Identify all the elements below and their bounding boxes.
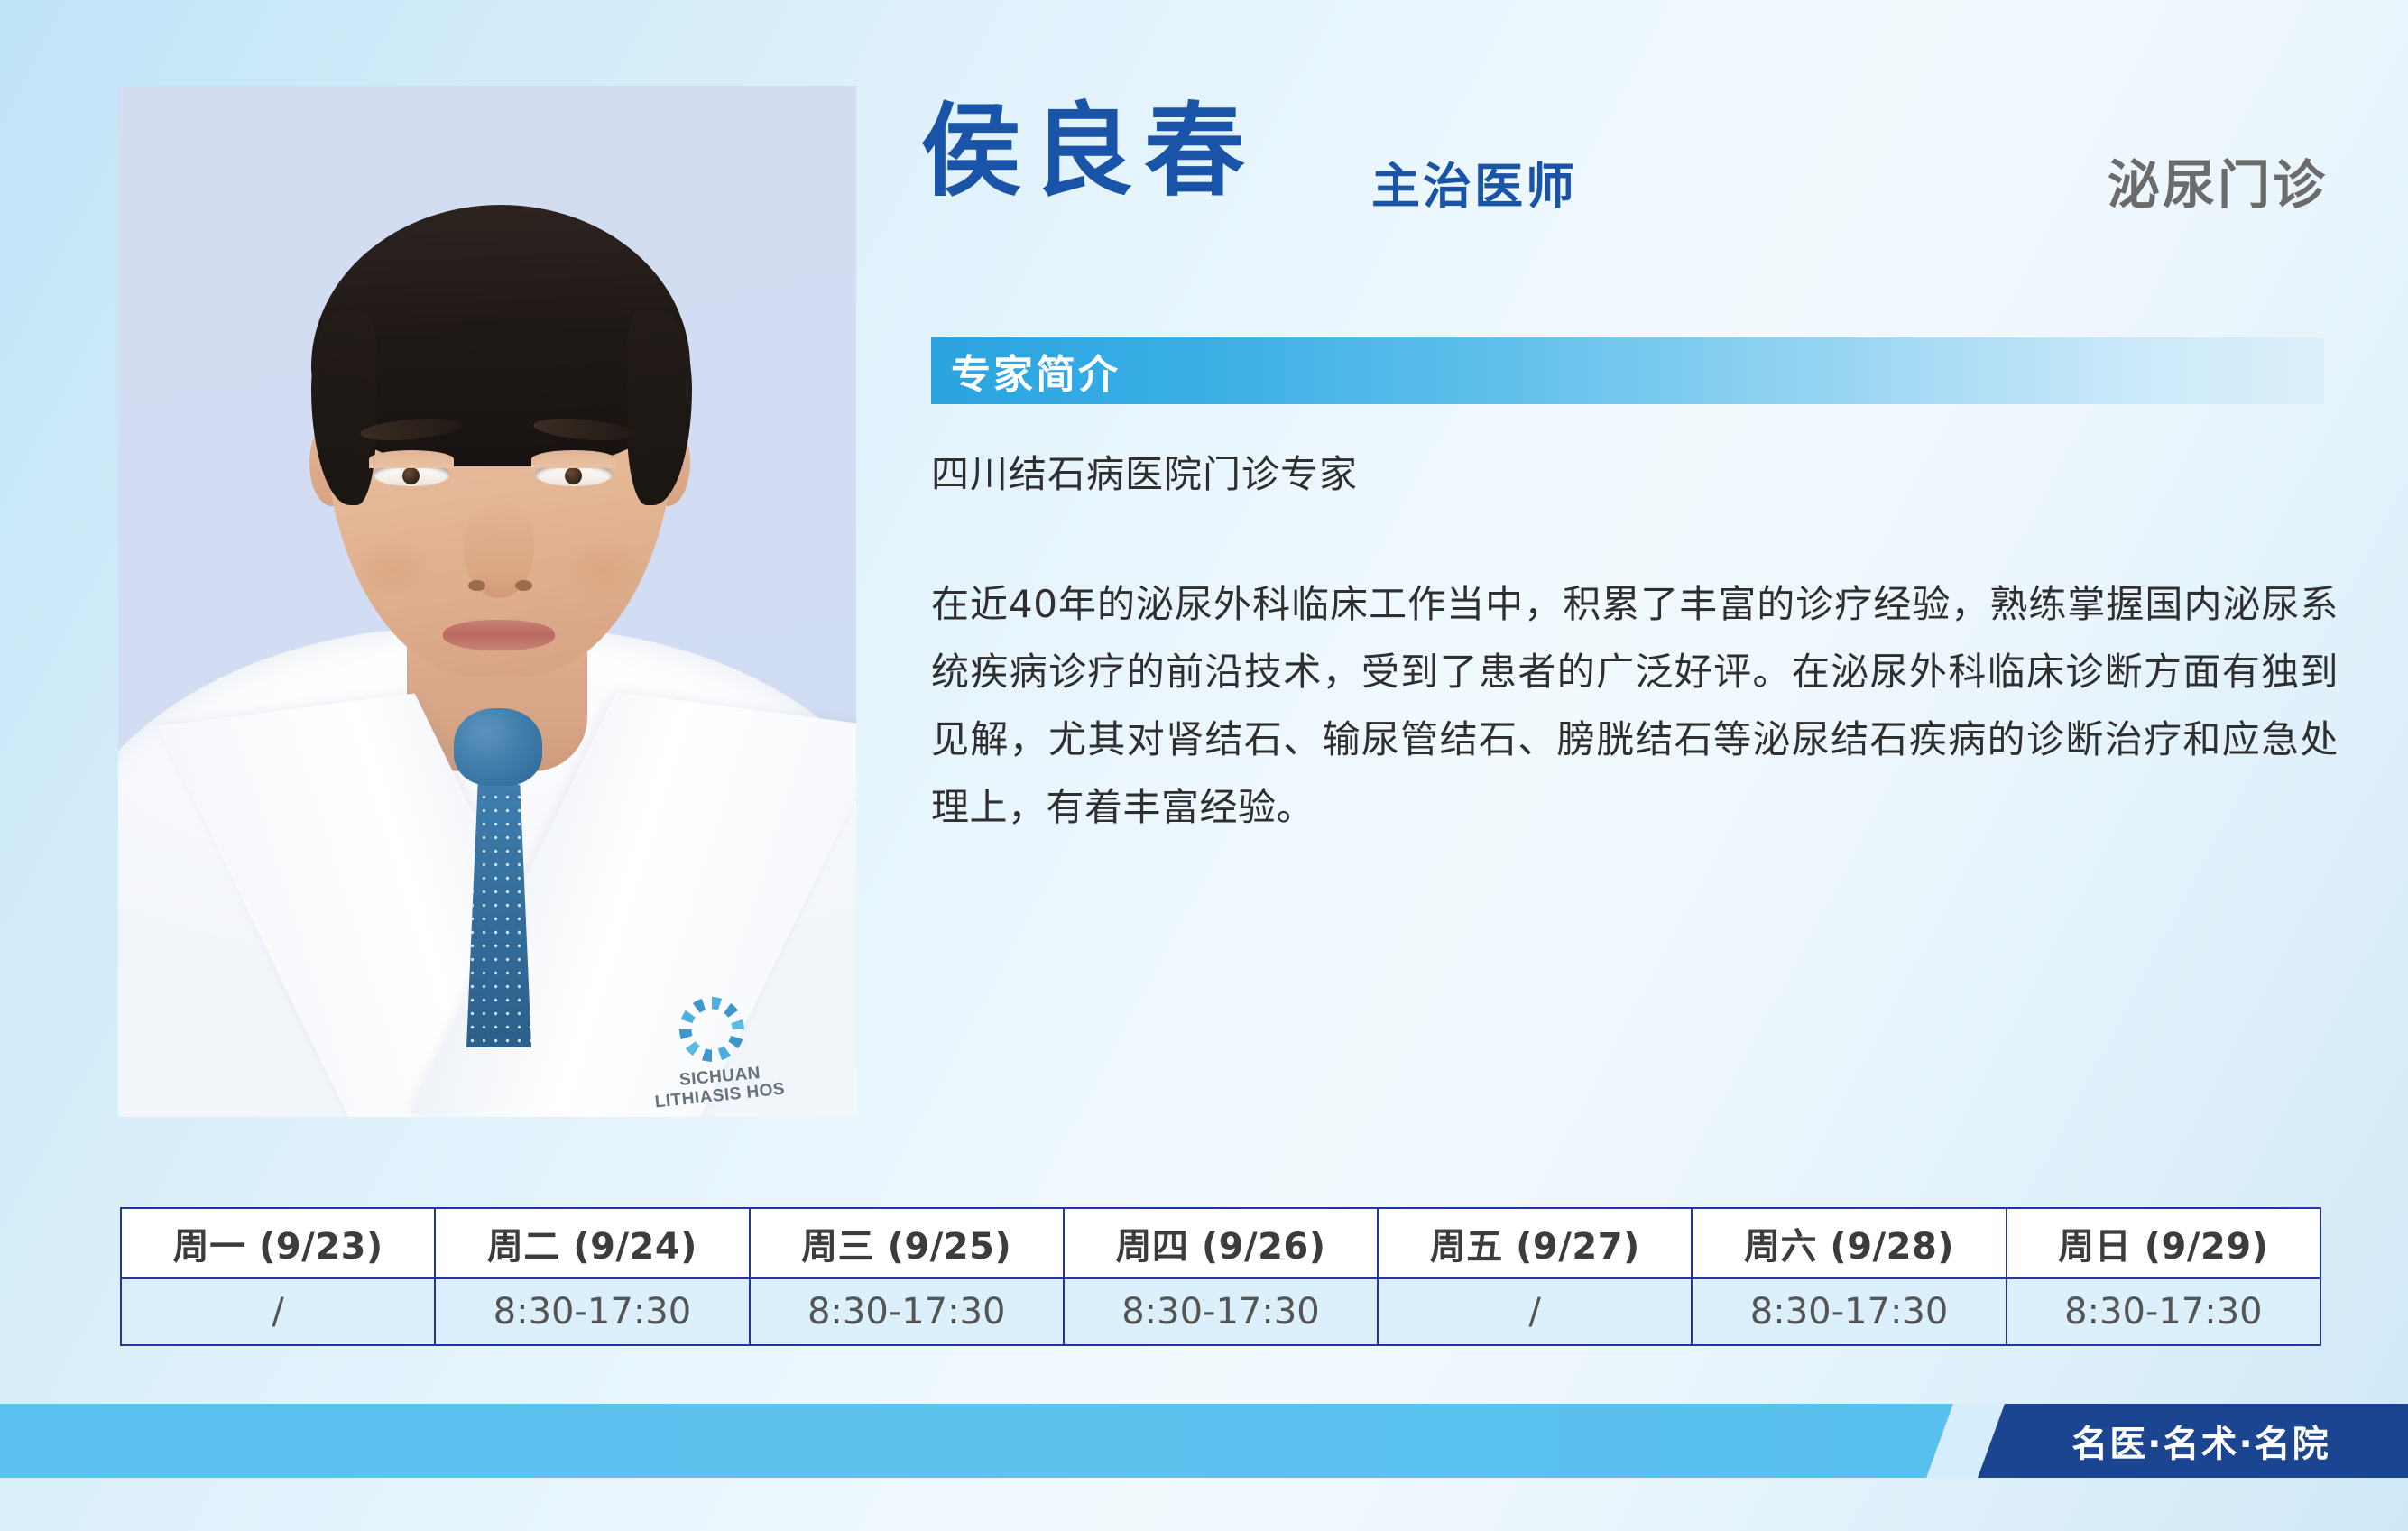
doctor-header: 侯良春 主治医师 泌尿门诊 [920,115,2328,242]
schedule-value-cell: 8:30-17:30 [435,1278,749,1345]
doctor-profile-card: SICHUAN LITHIASIS HOS 侯良春 主治医师 泌尿门诊 专家简介… [0,0,2408,1531]
schedule-header-cell: 周六 (9/28) [1692,1208,2006,1278]
intro-lead-text: 四川结石病医院门诊专家 [931,444,1358,499]
schedule-header-cell: 周一 (9/23) [121,1208,435,1278]
table-header-row: 周一 (9/23) 周二 (9/24) 周三 (9/25) 周四 (9/26) … [121,1208,2320,1278]
footer-bar: 名医·名术·名院 [0,1404,2408,1478]
section-header-bar: 专家简介 [931,337,2325,404]
doctor-title: 主治医师 [1371,162,1577,211]
schedule-header-cell: 周五 (9/27) [1378,1208,1692,1278]
schedule-header-cell: 周四 (9/26) [1064,1208,1378,1278]
cheek-left [351,537,434,602]
department-label: 泌尿门诊 [2108,159,2328,211]
weekly-schedule-table: 周一 (9/23) 周二 (9/24) 周三 (9/25) 周四 (9/26) … [120,1207,2321,1346]
pupil-right [565,467,582,484]
schedule-value-cell: / [121,1278,435,1345]
hospital-logo-icon: SICHUAN LITHIASIS HOS [652,997,788,1105]
footer-light-band [0,1404,1965,1478]
doctor-name: 侯良春 [920,101,1256,202]
section-title: 专家简介 [951,342,1121,400]
nostril-right [515,580,532,591]
pupil-left [402,467,420,484]
nostril-left [468,580,485,591]
schedule-value-cell: 8:30-17:30 [750,1278,1064,1345]
footer-slogan: 名医·名术·名院 [1978,1404,2408,1478]
schedule-header-cell: 周三 (9/25) [750,1208,1064,1278]
cheek-right [562,537,645,602]
mouth [443,620,555,650]
schedule-value-cell: 8:30-17:30 [1692,1278,2006,1345]
eyelid-left [369,450,454,468]
schedule-value-cell: 8:30-17:30 [2007,1278,2320,1345]
logo-ring-icon [679,997,744,1062]
necktie-knot [454,708,542,786]
table-row: / 8:30-17:30 8:30-17:30 8:30-17:30 / 8:3… [121,1278,2320,1345]
schedule-value-cell: 8:30-17:30 [1064,1278,1378,1345]
doctor-portrait-photo: SICHUAN LITHIASIS HOS [118,86,856,1117]
schedule-header-cell: 周二 (9/24) [435,1208,749,1278]
schedule-value-cell: / [1378,1278,1692,1345]
schedule-header-cell: 周日 (9/29) [2007,1208,2320,1278]
eyelid-right [531,450,616,468]
intro-body-text: 在近40年的泌尿外科临床工作当中，积累了丰富的诊疗经验，熟练掌握国内泌尿系统疾病… [931,570,2339,841]
